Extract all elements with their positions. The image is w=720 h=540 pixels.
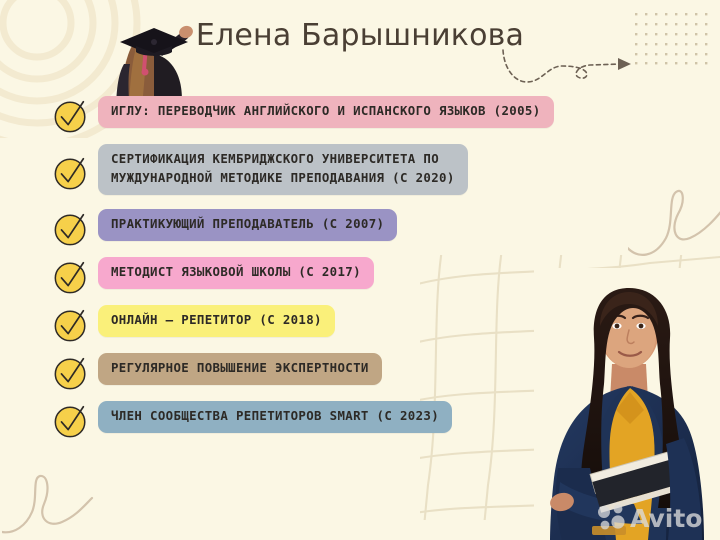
- achievement-pill: ЧЛЕН СООБЩЕСТВА РЕПЕТИТОРОВ SMART (С 202…: [98, 401, 452, 433]
- check-circle-icon: [52, 354, 90, 392]
- check-circle-icon: [52, 97, 90, 135]
- check-circle-icon: [52, 210, 90, 248]
- list-item[interactable]: ИГЛУ: ПЕРЕВОДЧИК АНГЛИЙСКОГО И ИСПАНСКОГ…: [52, 96, 652, 135]
- achievement-pill: ПРАКТИКУЮЩИЙ ПРЕПОДАВАТЕЛЬ (С 2007): [98, 209, 397, 241]
- slide-canvas: Елена Барышникова ИГЛУ: ПЕРЕВОДЧИК АНГЛИ…: [0, 0, 720, 540]
- avito-watermark: Avito: [596, 500, 714, 534]
- achievement-pill: ИГЛУ: ПЕРЕВОДЧИК АНГЛИЙСКОГО И ИСПАНСКОГ…: [98, 96, 554, 128]
- achievement-pill: РЕГУЛЯРНОЕ ПОВЫШЕНИЕ ЭКСПЕРТНОСТИ: [98, 353, 382, 385]
- achievement-pill: ОНЛАЙН – РЕПЕТИТОР (С 2018): [98, 305, 335, 337]
- loop-squiggle-decoration: [2, 470, 122, 536]
- check-circle-icon: [52, 258, 90, 296]
- achievement-pill: СЕРТИФИКАЦИЯ КЕМБРИДЖСКОГО УНИВЕРСИТЕТА …: [98, 144, 468, 195]
- list-item[interactable]: ПРАКТИКУЮЩИЙ ПРЕПОДАВАТЕЛЬ (С 2007): [52, 209, 652, 248]
- check-circle-icon: [52, 306, 90, 344]
- list-item[interactable]: СЕРТИФИКАЦИЯ КЕМБРИДЖСКОГО УНИВЕРСИТЕТА …: [52, 144, 652, 195]
- check-circle-icon: [52, 154, 90, 192]
- achievement-pill: МЕТОДИСТ ЯЗЫКОВОЙ ШКОЛЫ (С 2017): [98, 257, 374, 289]
- avito-wordmark: Avito: [630, 504, 702, 533]
- check-circle-icon: [52, 402, 90, 440]
